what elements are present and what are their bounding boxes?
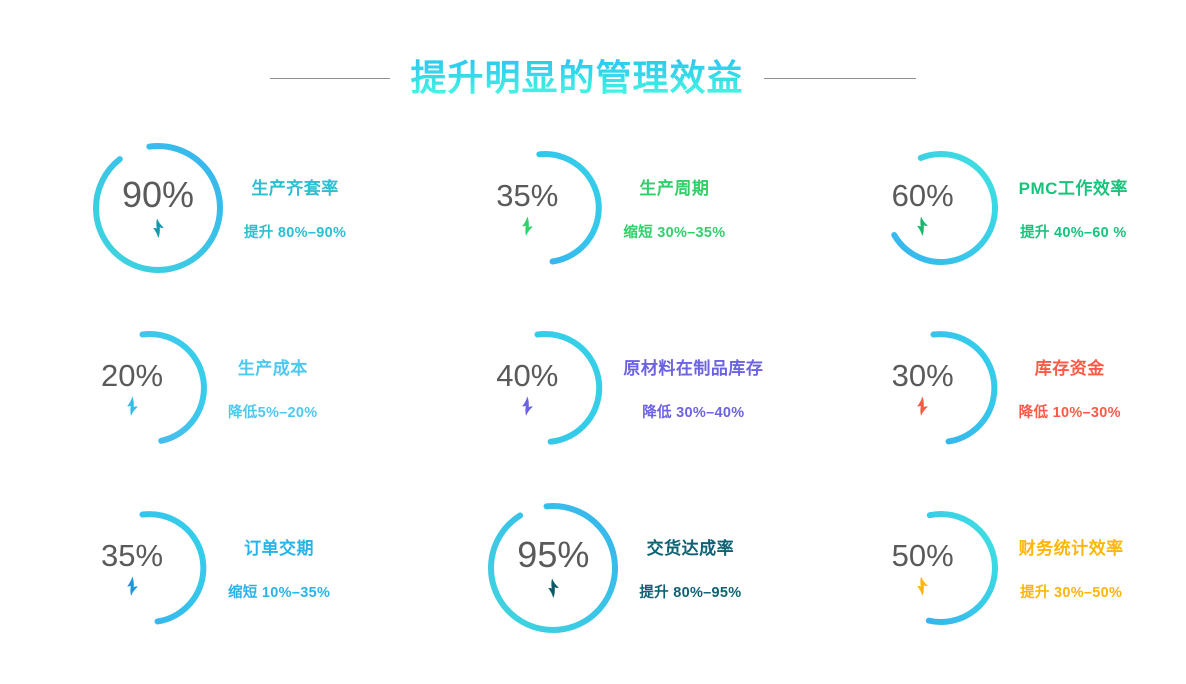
metric-text: 生产齐套率提升 80%–90% (244, 174, 346, 242)
metric-sublabel: 降低5%–20% (228, 401, 317, 422)
arrow-down-icon (124, 575, 141, 597)
progress-ring: 95% (487, 502, 619, 634)
progress-ring: 35% (487, 150, 603, 266)
metric-text: 生产周期缩短 30%–35% (623, 174, 725, 242)
metric-value: 30% (892, 360, 954, 391)
metric-card[interactable]: 20%生产成本降低5%–20% (0, 298, 395, 478)
ring-center: 30% (865, 330, 981, 446)
ring-center: 60% (865, 150, 981, 266)
progress-ring: 30% (883, 330, 999, 446)
metric-card[interactable]: 35%订单交期缩短 10%–35% (0, 478, 395, 658)
arrow-down-icon (124, 395, 141, 417)
ring-center: 95% (487, 502, 619, 634)
metric-sublabel: 提升 80%–90% (244, 221, 346, 242)
progress-ring: 40% (487, 330, 603, 446)
metric-value: 35% (496, 180, 558, 211)
metric-sublabel: 缩短 30%–35% (623, 221, 725, 242)
metric-label: 生产周期 (639, 174, 709, 199)
ring-center: 35% (74, 510, 190, 626)
metric-sublabel: 降低 30%–40% (642, 401, 744, 422)
metric-value: 50% (892, 540, 954, 571)
metric-card[interactable]: 95%交货达成率提升 80%–95% (395, 478, 790, 658)
arrow-down-icon (914, 395, 931, 417)
metric-label: 生产齐套率 (251, 174, 339, 199)
metric-sublabel: 缩短 10%–35% (228, 581, 330, 602)
metrics-grid: 90%生产齐套率提升 80%–90%35%生产周期缩短 30%–35%60%PM… (0, 118, 1186, 658)
metric-sublabel: 降低 10%–30% (1019, 401, 1121, 422)
arrow-up-icon (150, 217, 167, 239)
metric-card[interactable]: 35%生产周期缩短 30%–35% (395, 118, 790, 298)
metric-card[interactable]: 50%财务统计效率提升 30%–50% (791, 478, 1186, 658)
metric-card[interactable]: 60%PMC工作效率提升 40%–60 % (791, 118, 1186, 298)
metric-value: 95% (517, 537, 589, 573)
arrow-up-icon (914, 575, 931, 597)
metric-value: 90% (122, 177, 194, 213)
metric-label: 交货达成率 (647, 534, 735, 559)
metric-value: 40% (496, 360, 558, 391)
page-header: 提升明显的管理效益 (0, 48, 1186, 108)
metric-value: 35% (101, 540, 163, 571)
arrow-up-icon (545, 577, 562, 599)
metric-text: 订单交期缩短 10%–35% (228, 534, 330, 602)
metric-label: 原材料在制品库存 (623, 354, 763, 379)
ring-center: 40% (469, 330, 585, 446)
title-rule-left (270, 78, 390, 79)
progress-ring: 35% (92, 510, 208, 626)
metric-value: 60% (892, 180, 954, 211)
metric-sublabel: 提升 80%–95% (639, 581, 741, 602)
metric-label: 订单交期 (244, 534, 314, 559)
metric-text: 交货达成率提升 80%–95% (639, 534, 741, 602)
title-rule-right (764, 78, 916, 79)
progress-ring: 50% (883, 510, 999, 626)
metric-card[interactable]: 90%生产齐套率提升 80%–90% (0, 118, 395, 298)
metric-sublabel: 提升 40%–60 % (1020, 221, 1126, 242)
metric-label: 财务统计效率 (1019, 534, 1124, 559)
metric-text: 库存资金降低 10%–30% (1019, 354, 1121, 422)
metric-value: 20% (101, 360, 163, 391)
metric-card[interactable]: 30%库存资金降低 10%–30% (791, 298, 1186, 478)
progress-ring: 60% (883, 150, 999, 266)
metric-text: 原材料在制品库存降低 30%–40% (623, 354, 763, 422)
metric-text: 财务统计效率提升 30%–50% (1019, 534, 1124, 602)
metric-label: PMC工作效率 (1019, 174, 1128, 199)
ring-center: 50% (865, 510, 981, 626)
metric-card[interactable]: 40%原材料在制品库存降低 30%–40% (395, 298, 790, 478)
arrow-up-icon (914, 215, 931, 237)
page-title: 提升明显的管理效益 (410, 56, 743, 99)
ring-center: 20% (74, 330, 190, 446)
metric-text: 生产成本降低5%–20% (228, 354, 317, 422)
arrow-down-icon (519, 395, 536, 417)
metric-label: 生产成本 (238, 354, 308, 379)
progress-ring: 20% (92, 330, 208, 446)
arrow-down-icon (519, 215, 536, 237)
metric-label: 库存资金 (1035, 354, 1105, 379)
ring-center: 90% (92, 142, 224, 274)
metric-text: PMC工作效率提升 40%–60 % (1019, 174, 1128, 242)
ring-center: 35% (469, 150, 585, 266)
progress-ring: 90% (92, 142, 224, 274)
metric-sublabel: 提升 30%–50% (1020, 581, 1122, 602)
